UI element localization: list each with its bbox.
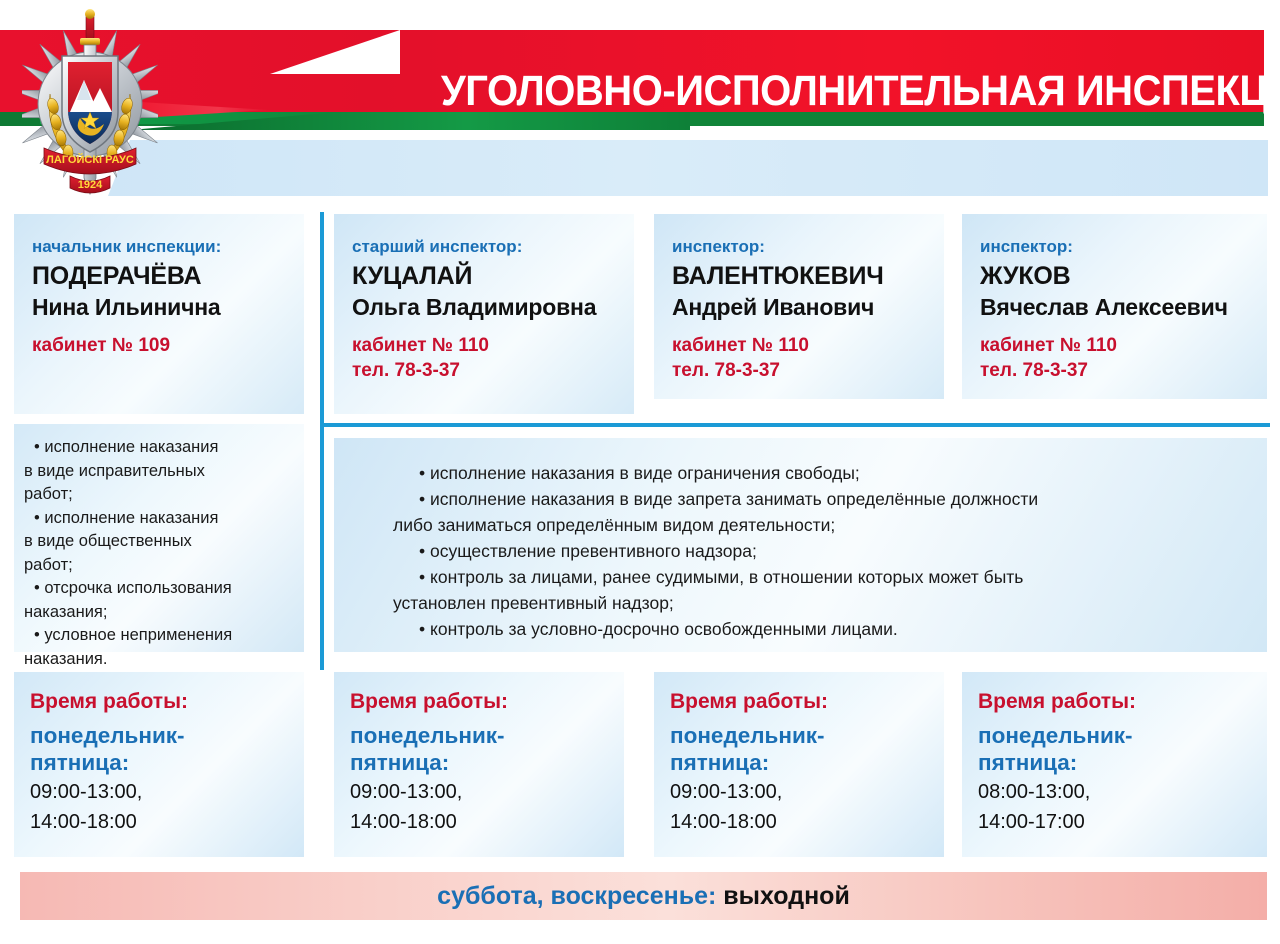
staff-given-name: Нина Ильинична: [32, 292, 286, 322]
staff-phone: тел. 78-3-37: [980, 358, 1249, 383]
working-hours-block: Время работы: понедельник- пятница: 09:0…: [654, 672, 944, 857]
police-emblem-icon: ЛАГОЙСКІ РАУС 1924: [22, 8, 158, 206]
working-hours-block: Время работы: понедельник- пятница: 09:0…: [334, 672, 624, 857]
hours-days-line1: понедельник-: [670, 722, 928, 749]
hours-time-line1: 09:00-13:00,: [350, 779, 608, 806]
duty-line: • исполнение наказания в виде запрета за…: [406, 486, 1241, 512]
staff-surname: КУЦАЛАЙ: [352, 261, 616, 292]
hours-title: Время работы:: [30, 688, 288, 716]
duty-line: либо заниматься определённым видом деяте…: [406, 512, 1241, 538]
emblem-ribbon-text: ЛАГОЙСКІ РАУС: [46, 153, 134, 166]
duties-panel-inspectors: • исполнение наказания в виде ограничени…: [334, 438, 1267, 652]
weekend-days: суббота, воскресенье:: [437, 882, 716, 910]
staff-surname: ВАЛЕНТЮКЕВИЧ: [672, 261, 926, 292]
staff-room: кабинет № 110: [352, 333, 616, 358]
duty-line: в виде исправительных: [24, 460, 294, 484]
hours-days-line1: понедельник-: [978, 722, 1251, 749]
hours-time-line2: 14:00-18:00: [350, 809, 608, 836]
header-banner: УГОЛОВНО-ИСПОЛНИТЕЛЬНАЯ ИНСПЕКЦИЯ: [0, 0, 1280, 205]
staff-room: кабинет № 109: [32, 333, 286, 358]
duty-line: • исполнение наказания: [24, 507, 294, 531]
poster-root: УГОЛОВНО-ИСПОЛНИТЕЛЬНАЯ ИНСПЕКЦИЯ: [0, 0, 1280, 944]
staff-role: инспектор:: [980, 236, 1249, 258]
duty-line: наказания.: [24, 648, 294, 672]
hours-days-line2: пятница:: [350, 749, 608, 776]
staff-card: старший инспектор: КУЦАЛАЙ Ольга Владими…: [334, 214, 634, 414]
hours-title: Время работы:: [670, 688, 928, 716]
staff-given-name: Андрей Иванович: [672, 292, 926, 322]
divider-vertical: [320, 212, 324, 670]
staff-surname: ЖУКОВ: [980, 261, 1249, 292]
hours-time-line1: 09:00-13:00,: [670, 779, 928, 806]
staff-surname: ПОДЕРАЧЁВА: [32, 261, 286, 292]
duty-line: установлен превентивный надзор;: [406, 590, 1241, 616]
duty-line: • осуществление превентивного надзора;: [406, 538, 1241, 564]
hours-time-line2: 14:00-17:00: [978, 809, 1251, 836]
blue-sub-banner: [108, 140, 1268, 196]
duty-line: работ;: [24, 554, 294, 578]
duties-panel-chief: • исполнение наказания в виде исправител…: [14, 424, 304, 652]
working-hours-block: Время работы: понедельник- пятница: 08:0…: [962, 672, 1267, 857]
staff-role: инспектор:: [672, 236, 926, 258]
staff-role: начальник инспекции:: [32, 236, 286, 258]
staff-card: инспектор: ЖУКОВ Вячеслав Алексеевич каб…: [962, 214, 1267, 399]
hours-days-line2: пятница:: [670, 749, 928, 776]
duty-line: • контроль за лицами, ранее судимыми, в …: [406, 564, 1241, 590]
duty-line: наказания;: [24, 601, 294, 625]
duty-line: • контроль за условно-досрочно освобожде…: [406, 616, 1241, 642]
staff-card: инспектор: ВАЛЕНТЮКЕВИЧ Андрей Иванович …: [654, 214, 944, 399]
weekend-value: выходной: [723, 882, 850, 910]
hours-time-line1: 09:00-13:00,: [30, 779, 288, 806]
staff-room: кабинет № 110: [672, 333, 926, 358]
page-title: УГОЛОВНО-ИСПОЛНИТЕЛЬНАЯ ИНСПЕКЦИЯ: [441, 60, 1250, 122]
hours-title: Время работы:: [978, 688, 1251, 716]
duty-line: в виде общественных: [24, 530, 294, 554]
staff-phone: тел. 78-3-37: [352, 358, 616, 383]
hours-days-line2: пятница:: [30, 749, 288, 776]
weekend-footer-bar: суббота, воскресенье: выходной: [20, 872, 1267, 920]
weekend-text: суббота, воскресенье: выходной: [437, 881, 850, 911]
hours-time-line2: 14:00-18:00: [30, 809, 288, 836]
staff-card: начальник инспекции: ПОДЕРАЧЁВА Нина Иль…: [14, 214, 304, 414]
hours-days-line1: понедельник-: [350, 722, 608, 749]
hours-time-line1: 08:00-13:00,: [978, 779, 1251, 806]
hours-days-line1: понедельник-: [30, 722, 288, 749]
hours-time-line2: 14:00-18:00: [670, 809, 928, 836]
emblem-year-text: 1924: [78, 179, 103, 191]
duty-line: • условное неприменения: [24, 624, 294, 648]
staff-phone: тел. 78-3-37: [672, 358, 926, 383]
duty-line: работ;: [24, 483, 294, 507]
staff-role: старший инспектор:: [352, 236, 616, 258]
duty-line: • отсрочка использования: [24, 577, 294, 601]
duty-line: • исполнение наказания в виде ограничени…: [406, 460, 1241, 486]
hours-title: Время работы:: [350, 688, 608, 716]
duty-line: • исполнение наказания: [24, 436, 294, 460]
divider-horizontal: [320, 423, 1270, 427]
staff-given-name: Ольга Владимировна: [352, 292, 616, 322]
hours-days-line2: пятница:: [978, 749, 1251, 776]
working-hours-block: Время работы: понедельник- пятница: 09:0…: [14, 672, 304, 857]
staff-given-name: Вячеслав Алексеевич: [980, 292, 1249, 322]
staff-room: кабинет № 110: [980, 333, 1249, 358]
